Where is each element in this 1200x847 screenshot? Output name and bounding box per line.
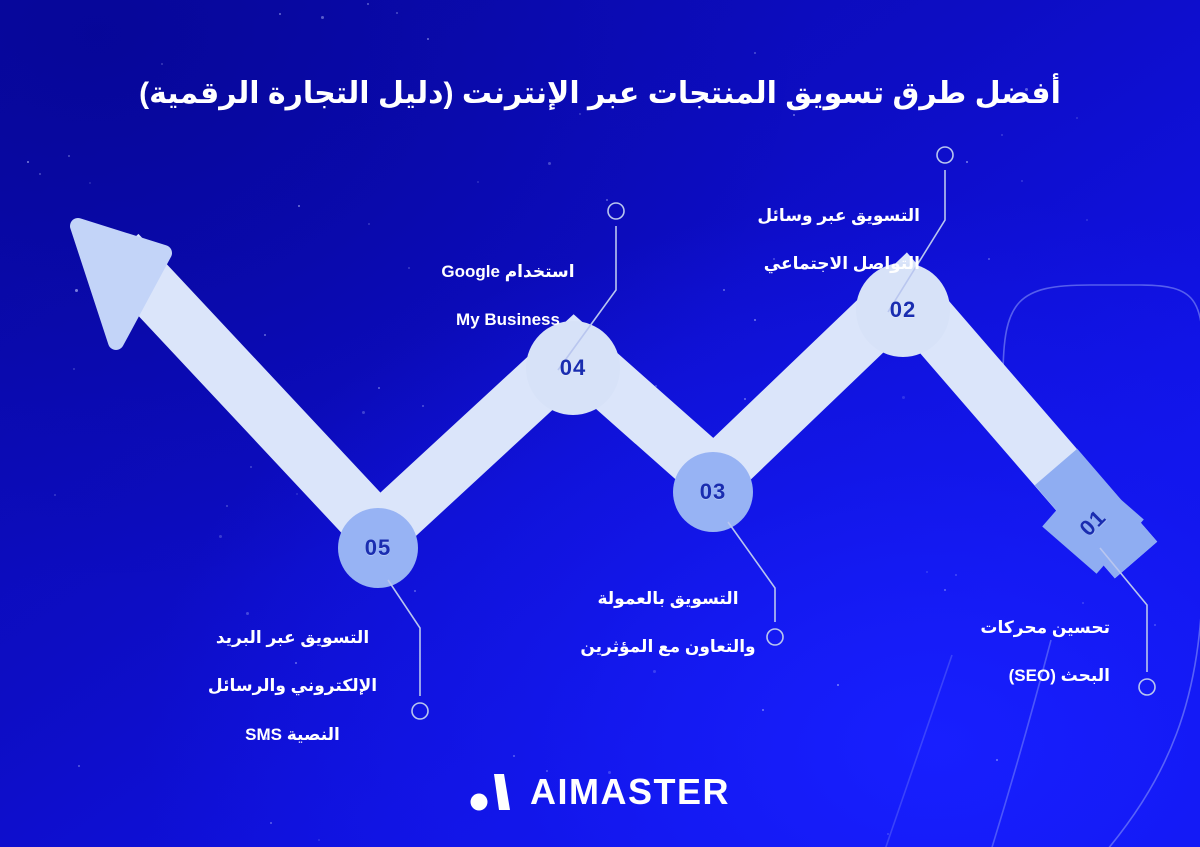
callout-04-line2: My Business	[408, 308, 608, 332]
callout-02-line1: التسويق عبر وسائل	[700, 204, 920, 228]
callout-05-line1: التسويق عبر البريد	[185, 626, 400, 650]
zigzag-arrow-chart	[0, 0, 1200, 847]
callout-05: التسويق عبر البريد الإلكتروني والرسائل ا…	[185, 602, 400, 771]
callout-03-line1: التسويق بالعمولة	[553, 587, 783, 611]
aimaster-mark-icon	[470, 772, 516, 812]
step-number-02: 02	[890, 297, 916, 323]
callout-01-line1: تحسين محركات	[910, 616, 1110, 640]
callout-03-line2: والتعاون مع المؤثرين	[553, 635, 783, 659]
callout-05-line2: الإلكتروني والرسائل	[185, 674, 400, 698]
brand-name: AIMASTER	[530, 771, 730, 813]
step-number-05: 05	[365, 535, 391, 561]
callout-02-line2: التواصل الاجتماعي	[700, 252, 920, 276]
callout-04: استخدام Google My Business	[408, 236, 608, 357]
infographic-canvas: أفضل طرق تسويق المنتجات عبر الإنترنت (دل…	[0, 0, 1200, 847]
callout-01: تحسين محركات البحث (SEO)	[910, 592, 1110, 713]
callout-05-line3: النصية SMS	[185, 723, 400, 747]
step-number-04: 04	[560, 355, 586, 381]
callout-01-line2: البحث (SEO)	[910, 664, 1110, 688]
step-number-03: 03	[700, 479, 726, 505]
brand-logo: AIMASTER	[0, 771, 1200, 813]
arrow-ribbon	[118, 253, 1136, 560]
callout-03: التسويق بالعمولة والتعاون مع المؤثرين	[553, 563, 783, 684]
callout-02: التسويق عبر وسائل التواصل الاجتماعي	[700, 180, 920, 301]
callout-04-line1: استخدام Google	[408, 260, 608, 284]
